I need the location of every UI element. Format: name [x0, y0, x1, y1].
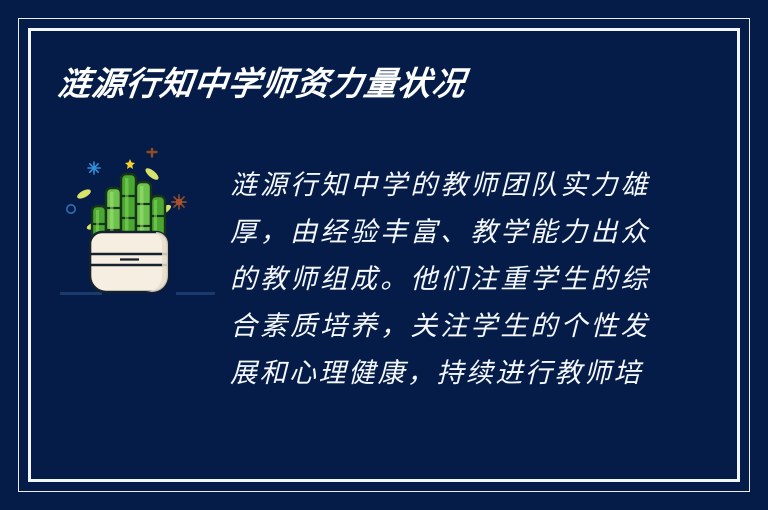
bamboo-in-pot-illustration — [60, 148, 215, 308]
body-paragraph: 涟源行知中学的教师团队实力雄厚，由经验丰富、教学能力出众的教师组成。他们注重学生… — [230, 162, 650, 412]
plant-pot-icon — [90, 232, 168, 292]
blue-circle-outline — [67, 205, 75, 213]
page-title: 涟源行知中学师资力量状况 — [56, 64, 469, 104]
leaf-icon — [76, 187, 92, 200]
yellow-star-sparkle — [125, 159, 135, 169]
leaf-icon — [144, 166, 161, 181]
poster-canvas: 涟源行知中学师资力量状况 — [0, 0, 768, 510]
blue-snowflake-sparkle — [88, 162, 100, 174]
brown-burst-sparkle — [172, 195, 186, 209]
brown-plus-sparkle — [148, 148, 157, 157]
